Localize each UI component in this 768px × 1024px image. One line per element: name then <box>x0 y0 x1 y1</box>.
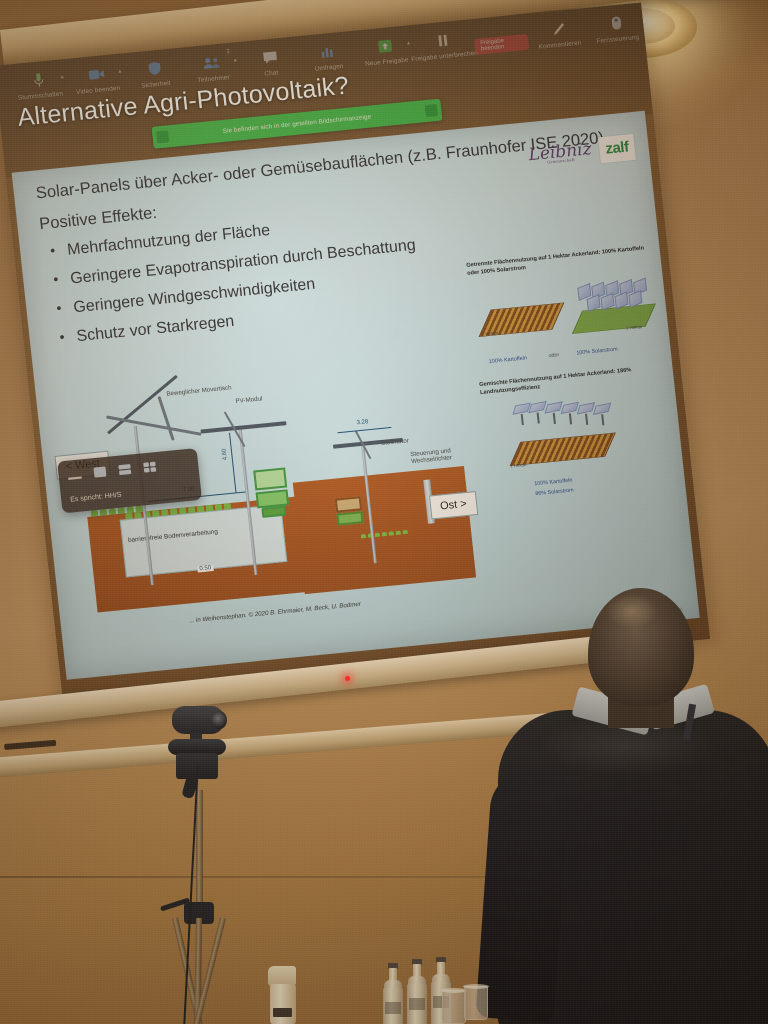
poll-bars-icon <box>315 40 339 62</box>
dimension-line-460 <box>229 433 236 493</box>
toolbar-stop-share-button[interactable]: Freigabe beenden <box>470 20 531 57</box>
toolbar-polls-button[interactable]: Umfragen <box>297 37 358 76</box>
panel-caption-conjunction: oder <box>548 352 559 359</box>
zalf-logo: zalf <box>598 134 636 163</box>
pen-icon <box>546 18 570 40</box>
solar-field-illustration <box>572 304 656 334</box>
drinking-glass <box>464 986 488 1020</box>
banner-right-handle[interactable] <box>425 104 438 117</box>
chevron-up-icon[interactable]: ▴ <box>407 39 411 46</box>
drinking-glass <box>442 990 466 1024</box>
conference-room-photo: Stummschalten ▴ Video beenden ▴ Sicherhe… <box>0 0 768 1024</box>
panel-caption: 86% Solarstrom <box>535 487 574 497</box>
east-direction-label: Ost > <box>429 491 478 519</box>
annotation-movertisch: Beweglicher Movertisch <box>166 384 232 397</box>
video-layout-icon-row[interactable] <box>67 456 190 486</box>
wall-ledge-slot <box>4 740 56 750</box>
harvester-machine-brown <box>335 496 365 534</box>
laser-pointer-dot <box>345 676 350 681</box>
toolbar-chat-button[interactable]: Chat <box>239 42 300 81</box>
remote-control-icon <box>604 12 628 34</box>
hectare-label: 1 Hektar <box>626 324 643 331</box>
dimension-label-460: 4.60 <box>222 448 229 460</box>
bullet-dot-icon: • <box>49 243 55 258</box>
toolbar-remote-control-label: Fernsteuerung <box>596 34 639 45</box>
dimension-label-328: 3.28 <box>356 419 368 426</box>
pv-panel-center <box>200 421 286 433</box>
banner-left-handle[interactable] <box>156 130 169 143</box>
hand-sanitizer-bottle <box>268 964 298 1024</box>
video-camera-icon <box>84 63 108 85</box>
tracker-panel-arc <box>106 415 201 435</box>
microphone-icon <box>27 69 51 91</box>
toolbar-stop-share-label: Freigabe beenden <box>474 34 529 55</box>
annotation-steuerung: Steuerung und Wechselrichter <box>410 446 469 466</box>
chevron-up-icon[interactable]: ▴ <box>233 56 237 63</box>
leibniz-logo: Leibniz Gemeinschaft <box>528 141 593 167</box>
speaker-view-icon[interactable] <box>93 464 108 483</box>
gallery-view-icon[interactable] <box>142 459 157 478</box>
toolbar-pause-share-label: Freigabe unterbrechen <box>411 50 478 63</box>
toolbar-polls-label: Umfragen <box>314 63 343 73</box>
glass-body <box>464 986 488 1020</box>
panel-caption: 100% Kartoffeln <box>534 478 573 488</box>
active-speaker-label: Es spricht: HH/S <box>70 485 192 504</box>
toolbar-annotate-label: Kommentieren <box>538 40 581 51</box>
sanitizer-label <box>273 1008 292 1017</box>
bullet-dot-icon: • <box>59 329 65 344</box>
chat-bubble-icon <box>258 46 282 68</box>
annotation-stellmotor: Stellmotor <box>381 437 409 447</box>
glass-body <box>442 990 466 1024</box>
camera-lens-icon <box>212 711 227 729</box>
share-screen-icon <box>373 35 397 57</box>
bottle-label <box>385 1002 401 1014</box>
toolbar-remote-control-button[interactable]: Fernsteuerung <box>586 8 647 47</box>
dimension-line-328 <box>338 427 392 433</box>
pause-icon <box>431 29 455 51</box>
panel-mixed-land-use: Gemischte Flächennutzung auf 1 Hektar Ac… <box>475 364 680 512</box>
toolbar-participants-button[interactable]: 2 Teilnehmer ▴ <box>182 48 243 87</box>
sanitizer-trigger <box>268 966 296 986</box>
shield-icon <box>142 57 166 79</box>
annotation-pv-modul: PV-Modul <box>235 395 262 405</box>
toolbar-new-share-label: Neue Freigabe <box>365 57 409 68</box>
sanitizer-body <box>270 984 296 1024</box>
bullet-dot-icon: • <box>56 301 62 316</box>
presenter-back-view <box>478 584 768 1024</box>
panel-title: Getrennte Flächennutzung auf 1 Hektar Ac… <box>466 244 659 278</box>
toolbar-annotate-button[interactable]: Kommentieren <box>528 14 589 53</box>
slide-subheading: Positive Effekte: <box>38 204 158 234</box>
toolbar-pause-share-button[interactable]: Freigabe unterbrechen <box>413 25 474 64</box>
panel-separate-land-use: Getrennte Flächennutzung auf 1 Hektar Ac… <box>462 245 665 375</box>
participants-icon <box>200 52 224 74</box>
toolbar-new-share-button[interactable]: Neue Freigabe ▴ <box>355 31 416 70</box>
toolbar-chat-label: Chat <box>264 69 279 77</box>
harvester-machine-green <box>253 467 291 524</box>
panel-caption: 100% Kartoffeln <box>489 355 528 365</box>
wall-ledge <box>0 713 550 778</box>
soil-body-right <box>293 466 476 594</box>
tracker-panel-vertical <box>157 396 174 441</box>
hectare-label: 1 Hektar <box>482 330 499 337</box>
toolbar-security-button[interactable]: Sicherheit <box>124 54 185 93</box>
tripod-center-column <box>196 790 203 910</box>
chevron-up-icon[interactable]: ▴ <box>60 73 64 80</box>
diagram-credit: ... in Weihenstephan. © 2020 B. Ehrmaier… <box>189 601 362 625</box>
gallery-strip-icon[interactable] <box>118 462 133 481</box>
bullet-text: Schutz vor Starkregen <box>76 313 235 346</box>
toolbar-stop-video-button[interactable]: Video beenden ▴ <box>66 59 127 98</box>
hectare-label: 1 Hektar <box>510 462 527 469</box>
toolbar-mute-button[interactable]: Stummschalten ▴ <box>9 65 70 104</box>
head-highlight <box>606 594 658 628</box>
camera-tripod <box>150 706 270 1024</box>
minimize-icon[interactable] <box>67 466 83 485</box>
slide-bullet-list: • Mehrfachnutzung der Fläche • Geringere… <box>49 208 424 359</box>
chevron-up-icon[interactable]: ▴ <box>118 68 122 75</box>
bullet-dot-icon: • <box>53 272 59 287</box>
participants-count-badge: 2 <box>226 49 230 55</box>
panel-caption: 100% Solarstrom <box>576 346 618 356</box>
bottle-label <box>409 998 425 1010</box>
glass-rim <box>463 984 489 989</box>
